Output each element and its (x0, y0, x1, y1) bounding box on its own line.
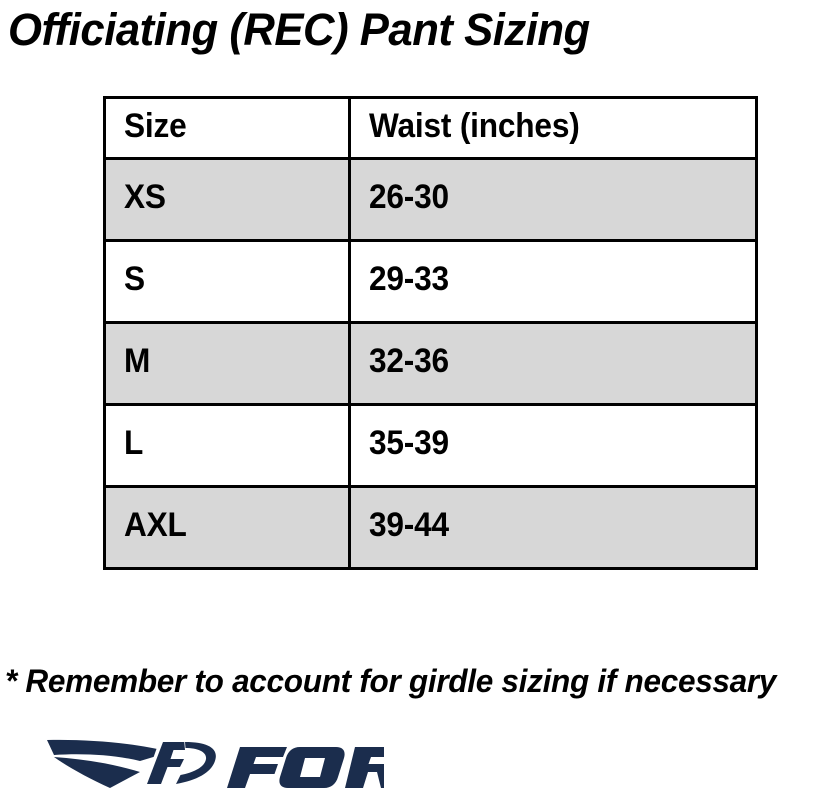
cell-size-value: XS (124, 179, 166, 215)
table-row: XS 26-30 (105, 159, 757, 241)
table-row: AXL 39-44 (105, 487, 757, 569)
wordmark-letter-o (279, 747, 344, 788)
cell-waist-value: 26-30 (369, 179, 449, 215)
table-row: M 32-36 (105, 323, 757, 405)
swoosh-icon (47, 740, 170, 761)
cell-waist-value: 39-44 (369, 507, 449, 543)
swoosh-lower-icon (54, 757, 140, 788)
footnote-text: * Remember to account for girdle sizing … (5, 660, 808, 702)
cell-size-value: AXL (124, 507, 187, 543)
page-title: Officiating (REC) Pant Sizing (8, 2, 796, 58)
cell-waist: 35-39 (350, 405, 757, 487)
table-header-row: Size Waist (inches) (105, 98, 757, 159)
column-header-waist: Waist (inches) (350, 98, 757, 159)
wordmark-letter-r (345, 747, 384, 788)
column-header-size-label: Size (124, 108, 187, 144)
table-header: Size Waist (inches) (105, 98, 757, 159)
force-logo-svg (44, 731, 384, 795)
wordmark-letter-f (227, 747, 287, 788)
cell-waist-value: 32-36 (369, 343, 449, 379)
column-header-waist-label: Waist (inches) (369, 108, 580, 144)
cell-waist: 29-33 (350, 241, 757, 323)
size-chart-table-container: Size Waist (inches) XS 26-30 S (103, 96, 755, 570)
cell-size: L (105, 405, 350, 487)
cell-size: XS (105, 159, 350, 241)
cell-waist: 26-30 (350, 159, 757, 241)
cell-size: S (105, 241, 350, 323)
cell-waist: 39-44 (350, 487, 757, 569)
cell-size: AXL (105, 487, 350, 569)
cell-size-value: M (124, 343, 150, 379)
column-header-size: Size (105, 98, 350, 159)
cell-size-value: L (124, 425, 143, 461)
table-body: XS 26-30 S 29-33 M 32-36 (105, 159, 757, 569)
size-chart-table: Size Waist (inches) XS 26-30 S (103, 96, 758, 570)
cell-waist: 32-36 (350, 323, 757, 405)
table-row: S 29-33 (105, 241, 757, 323)
cell-waist-value: 29-33 (369, 261, 449, 297)
table-row: L 35-39 (105, 405, 757, 487)
cell-waist-value: 35-39 (369, 425, 449, 461)
cell-size: M (105, 323, 350, 405)
force-brand-logo (44, 731, 384, 795)
cell-size-value: S (124, 261, 145, 297)
